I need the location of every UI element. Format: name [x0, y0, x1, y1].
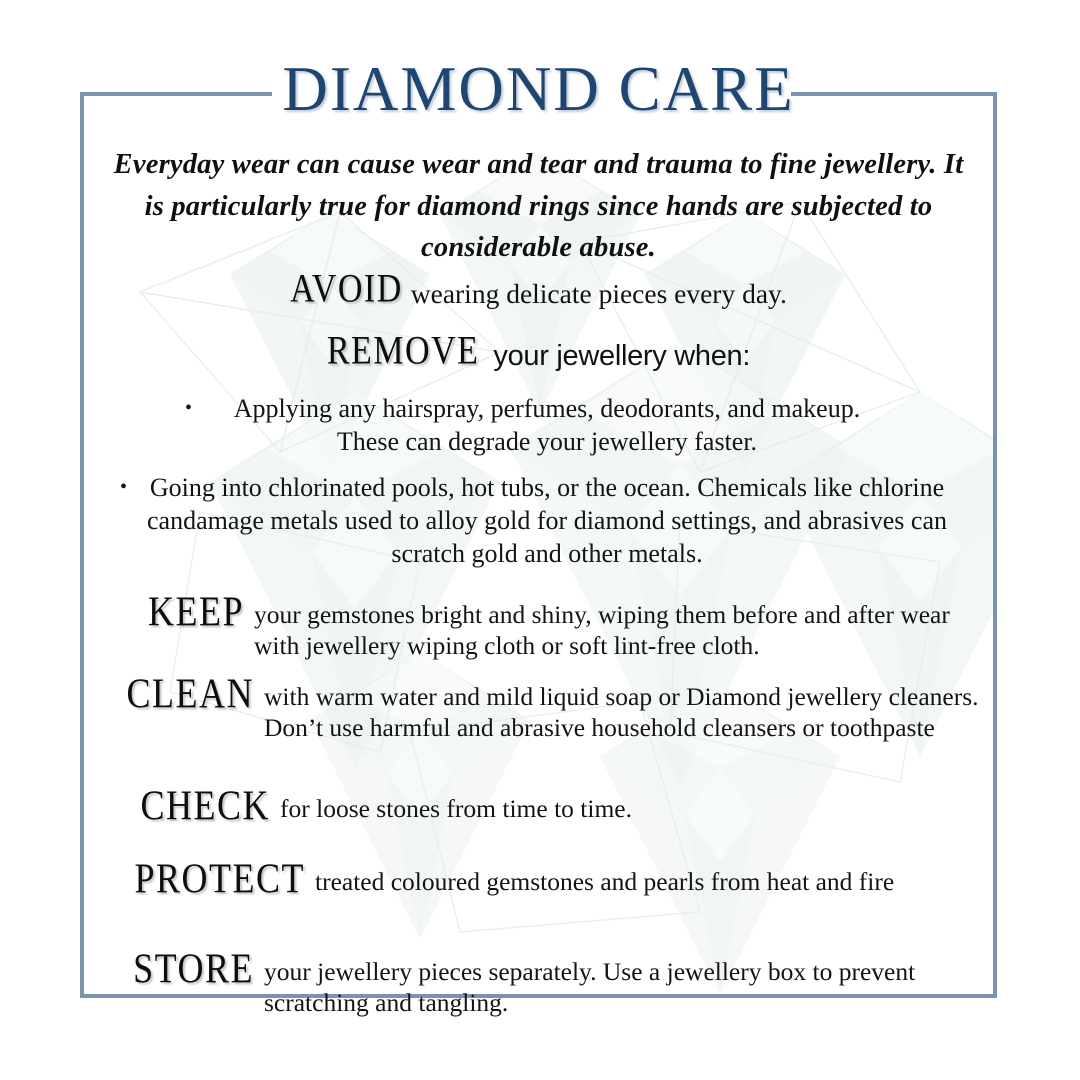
intro-paragraph: Everyday wear can cause wear and tear an… — [106, 144, 971, 269]
check-keyword: CHECK — [140, 780, 270, 830]
remove-bullet-list: • Applying any hairspray, perfumes, deod… — [106, 392, 971, 582]
remove-text: your jewellery when: — [493, 340, 750, 372]
avoid-text: wearing delicate pieces every day. — [411, 278, 787, 309]
page-title: DIAMOND CARE — [84, 58, 993, 121]
list-item: • Going into chlorinated pools, hot tubs… — [106, 471, 971, 571]
bullet-icon: • — [185, 392, 192, 422]
poster-content: DIAMOND CARE Everyday wear can cause wea… — [84, 96, 993, 994]
section-check: CHECK for loose stones from time to time… — [84, 788, 993, 830]
list-item-text: Going into chlorinated pools, hot tubs, … — [137, 471, 957, 571]
clean-text: with warm water and mild liquid soap or … — [264, 676, 993, 743]
keep-keyword-column: KEEP — [84, 594, 254, 636]
avoid-line: AVOIDwearing delicate pieces every day. — [84, 274, 993, 312]
section-clean: CLEAN with warm water and mild liquid so… — [84, 676, 993, 743]
check-text: for loose stones from time to time. — [280, 788, 993, 825]
check-keyword-column: CHECK — [84, 788, 280, 830]
diamond-care-poster: DIAMOND CARE Everyday wear can cause wea… — [0, 0, 1080, 1080]
store-text: your jewellery pieces separately. Use a … — [264, 951, 993, 1018]
section-store: STORE your jewellery pieces separately. … — [84, 951, 993, 1018]
keep-keyword: KEEP — [148, 586, 244, 636]
section-protect: PROTECT treated coloured gemstones and p… — [84, 861, 993, 903]
protect-keyword: PROTECT — [134, 853, 305, 903]
section-keep: KEEP your gemstones bright and shiny, wi… — [84, 594, 993, 661]
protect-text: treated coloured gemstones and pearls fr… — [315, 861, 993, 898]
clean-keyword-column: CLEAN — [84, 676, 264, 718]
protect-keyword-column: PROTECT — [84, 861, 315, 903]
remove-keyword: REMOVE — [327, 329, 480, 374]
bullet-icon: • — [120, 471, 127, 501]
remove-line: REMOVEyour jewellery when: — [84, 336, 993, 374]
list-item-text: Applying any hairspray, perfumes, deodor… — [202, 392, 892, 459]
list-item: • Applying any hairspray, perfumes, deod… — [106, 392, 971, 459]
frame-border-right — [993, 92, 997, 998]
clean-keyword: CLEAN — [127, 668, 255, 718]
store-keyword-column: STORE — [84, 951, 264, 993]
avoid-keyword: AVOID — [290, 267, 403, 312]
store-keyword: STORE — [133, 943, 254, 993]
keep-text: your gemstones bright and shiny, wiping … — [254, 594, 993, 661]
